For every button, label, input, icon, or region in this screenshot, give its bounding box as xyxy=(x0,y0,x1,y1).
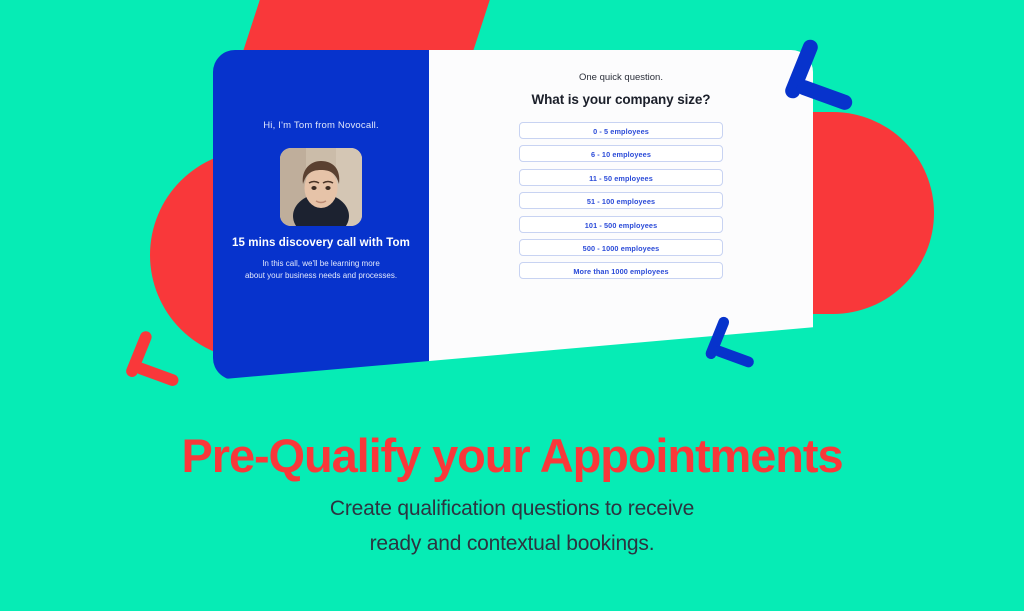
chevron-bottom-middle-icon xyxy=(706,316,764,381)
chevron-bottom-left-icon xyxy=(127,330,189,400)
avatar xyxy=(280,148,362,226)
option-button[interactable]: 11 - 50 employees xyxy=(519,169,723,186)
option-list: 0 - 5 employees 6 - 10 employees 11 - 50… xyxy=(429,122,813,279)
page-subtitle: Create qualification questions to receiv… xyxy=(0,491,1024,561)
question-title: What is your company size? xyxy=(429,92,813,107)
option-button[interactable]: 101 - 500 employees xyxy=(519,216,723,233)
lead-text: One quick question. xyxy=(429,72,813,83)
call-description: In this call, we'll be learning more abo… xyxy=(223,258,419,282)
page-subtitle-line-2: ready and contextual bookings. xyxy=(0,526,1024,561)
page-stage: Hi, I'm Tom from Novocall. xyxy=(0,0,1024,611)
option-button[interactable]: 500 - 1000 employees xyxy=(519,239,723,256)
option-button[interactable]: More than 1000 employees xyxy=(519,262,723,279)
red-dome-shape xyxy=(812,112,934,314)
option-button[interactable]: 0 - 5 employees xyxy=(519,122,723,139)
card-left-panel: Hi, I'm Tom from Novocall. xyxy=(213,50,429,380)
option-button[interactable]: 51 - 100 employees xyxy=(519,192,723,209)
option-button[interactable]: 6 - 10 employees xyxy=(519,145,723,162)
page-subtitle-line-1: Create qualification questions to receiv… xyxy=(0,491,1024,526)
chevron-top-right-icon xyxy=(786,38,866,128)
call-description-line-2: about your business needs and processes. xyxy=(223,270,419,282)
page-title: Pre-Qualify your Appointments xyxy=(0,428,1024,483)
call-title: 15 mins discovery call with Tom xyxy=(213,237,429,249)
call-description-line-1: In this call, we'll be learning more xyxy=(223,258,419,270)
greeting-text: Hi, I'm Tom from Novocall. xyxy=(213,120,429,131)
